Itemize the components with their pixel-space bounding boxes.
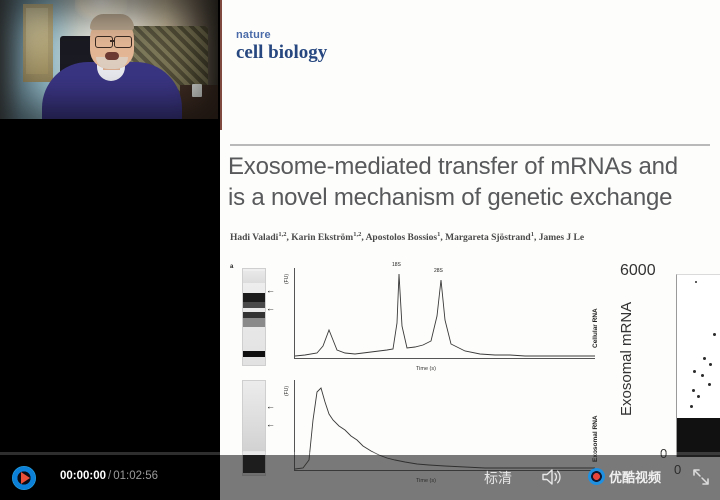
scatter-point (697, 395, 700, 398)
presentation-slide[interactable]: nature cell biology Exosome-mediated tra… (220, 0, 720, 500)
slide-left-edge (220, 0, 222, 130)
paper-title-line2: is a novel mechanism of genetic exchange (228, 183, 720, 214)
video-player: nature cell biology Exosome-mediated tra… (0, 0, 720, 500)
player-control-bar: 00:00:00/01:02:56 标清 优酷视频 (0, 455, 720, 500)
scatter-plot-area: R2 (676, 274, 720, 457)
quality-selector[interactable]: 标清 (484, 468, 512, 488)
paper-title-line1: Exosome-mediated transfer of mRNAs and (228, 152, 720, 183)
scatter-y-axis-label: Exosomal mRNA (618, 302, 635, 416)
volume-icon (540, 467, 564, 487)
scatter-point (701, 374, 704, 377)
scatter-point (690, 405, 693, 408)
cellular-rna-y-label: (FU) (284, 274, 290, 284)
journal-logo-line2: cell biology (236, 43, 327, 62)
progress-bar[interactable] (0, 452, 720, 455)
paper-authors: Hadi Valadi1,2, Karin Ekström1,2, Aposto… (230, 231, 720, 243)
scatter-y-max-label: 6000 (620, 262, 656, 280)
cellular-rna-x-label: Time (s) (416, 366, 436, 372)
gel-arrow-exo-1-icon: ← (266, 402, 275, 411)
presenter-webcam-video[interactable] (0, 0, 218, 119)
total-time: 01:02:56 (113, 470, 158, 482)
journal-logo: nature cell biology (236, 30, 327, 62)
timecode: 00:00:00/01:02:56 (60, 470, 158, 482)
scatter-point (703, 357, 706, 360)
peak-label-28s: 28S (434, 268, 443, 274)
webcam-vignette (0, 0, 218, 119)
cellular-rna-side-label: Cellular RNA (592, 308, 599, 348)
cellular-rna-axes (294, 268, 595, 359)
journal-logo-line1: nature (236, 30, 327, 41)
scatter-point (693, 370, 696, 373)
exosomal-mrna-scatter: 6000 Exosomal mRNA 0 0 R2 (604, 266, 720, 476)
header-divider (230, 144, 710, 146)
peak-label-18s: 18S (392, 262, 401, 268)
scatter-point (713, 333, 716, 336)
cellular-rna-gel-lane (242, 268, 266, 366)
youku-logo-icon (588, 468, 605, 485)
time-separator: / (108, 470, 111, 482)
gel-arrow-28s-icon: ← (266, 286, 275, 295)
paper-title: Exosome-mediated transfer of mRNAs and i… (228, 152, 720, 213)
gel-arrow-exo-2-icon: ← (266, 420, 275, 429)
current-time: 00:00:00 (60, 470, 106, 482)
play-button[interactable] (12, 466, 36, 490)
gel-arrow-18s-icon: ← (266, 304, 275, 313)
play-icon (21, 472, 30, 484)
scatter-point (695, 281, 697, 283)
fullscreen-icon (692, 468, 710, 486)
brand-label: 优酷视频 (609, 467, 661, 486)
fullscreen-button[interactable] (692, 468, 710, 486)
exosomal-rna-y-label: (FU) (284, 386, 290, 396)
volume-button[interactable] (540, 467, 564, 487)
scatter-point (692, 389, 695, 392)
cellular-rna-trace (295, 268, 595, 358)
scatter-point (709, 363, 712, 366)
cellular-rna-chart: ← ← (FU) 18S 28S Time (s) Cellular RNA (226, 262, 600, 374)
scatter-point (708, 383, 711, 386)
brand-watermark[interactable]: 优酷视频 (588, 467, 661, 486)
